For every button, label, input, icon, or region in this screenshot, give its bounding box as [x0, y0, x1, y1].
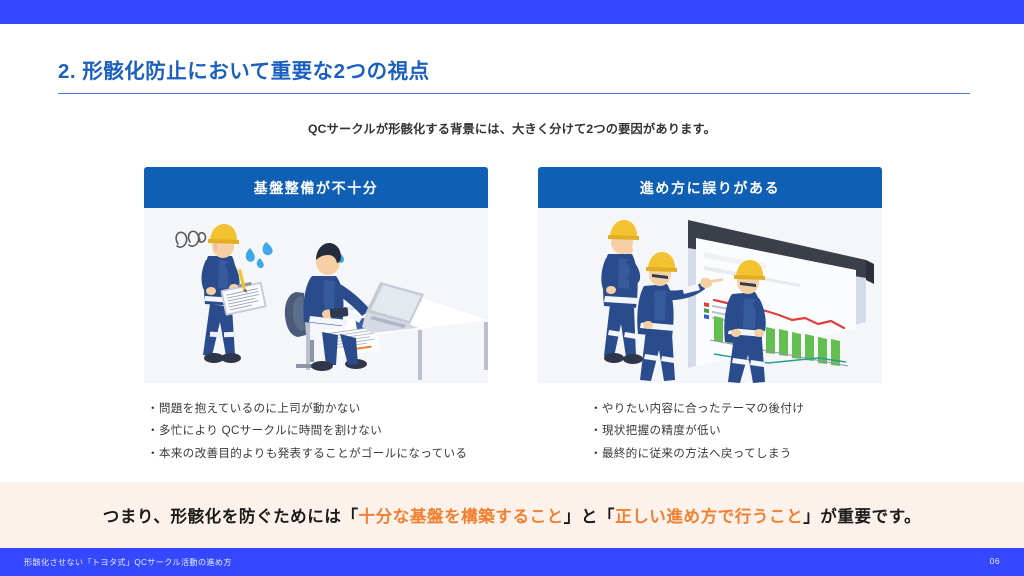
page-title: 2. 形骸化防止において重要な2つの視点 [58, 58, 970, 86]
conclusion-highlight-method: 正しい進め方で行うこと [615, 508, 803, 526]
title-underline-rule [58, 93, 970, 94]
conclusion-suffix: 」が重要です。 [803, 508, 921, 526]
bullet-item: ・多忙により QCサークルに時間を割けない [147, 420, 527, 442]
title-block: 2. 形骸化防止において重要な2つの視点 [58, 58, 970, 94]
footer-document-title: 形骸化させない「トヨタ式」QCサークル活動の進め方 [24, 556, 232, 568]
office-worker-and-supervisor-illustration [144, 208, 488, 383]
conclusion-middle: 」と「 [564, 508, 615, 526]
card-method: 進め方に誤りがある [538, 167, 882, 383]
lead-sentence: QCサークルが形骸化する背景には、大きく分けて2つの要因があります。 [0, 119, 1024, 137]
card-foundation: 基盤整備が不十分 [144, 167, 488, 383]
top-accent-bar [0, 0, 1024, 24]
bullet-item: ・問題を抱えているのに上司が動かない [147, 398, 527, 420]
team-reviewing-chart-on-screen-illustration [538, 208, 882, 383]
conclusion-prefix: つまり、形骸化を防ぐためには「 [103, 508, 359, 526]
bullet-item: ・現状把握の精度が低い [590, 420, 940, 442]
conclusion-banner: つまり、形骸化を防ぐためには「十分な基盤を構築すること」と「正しい進め方で行うこ… [0, 482, 1024, 548]
bullets-foundation: ・問題を抱えているのに上司が動かない ・多忙により QCサークルに時間を割けない… [147, 398, 527, 465]
bullets-method: ・やりたい内容に合ったテーマの後付け ・現状把握の精度が低い ・最終的に従来の方… [590, 398, 940, 465]
slide-root: 2. 形骸化防止において重要な2つの視点 QCサークルが形骸化する背景には、大き… [0, 0, 1024, 576]
bullet-item: ・最終的に従来の方法へ戻ってしまう [590, 443, 940, 465]
footer-page-number: 06 [990, 556, 1000, 566]
bullet-item: ・本来の改善目的よりも発表することがゴールになっている [147, 443, 527, 465]
card-foundation-header: 基盤整備が不十分 [144, 167, 488, 208]
bullet-item: ・やりたい内容に合ったテーマの後付け [590, 398, 940, 420]
card-method-header: 進め方に誤りがある [538, 167, 882, 208]
conclusion-text: つまり、形骸化を防ぐためには「十分な基盤を構築すること」と「正しい進め方で行うこ… [103, 503, 922, 527]
conclusion-highlight-foundation: 十分な基盤を構築すること [359, 508, 564, 526]
